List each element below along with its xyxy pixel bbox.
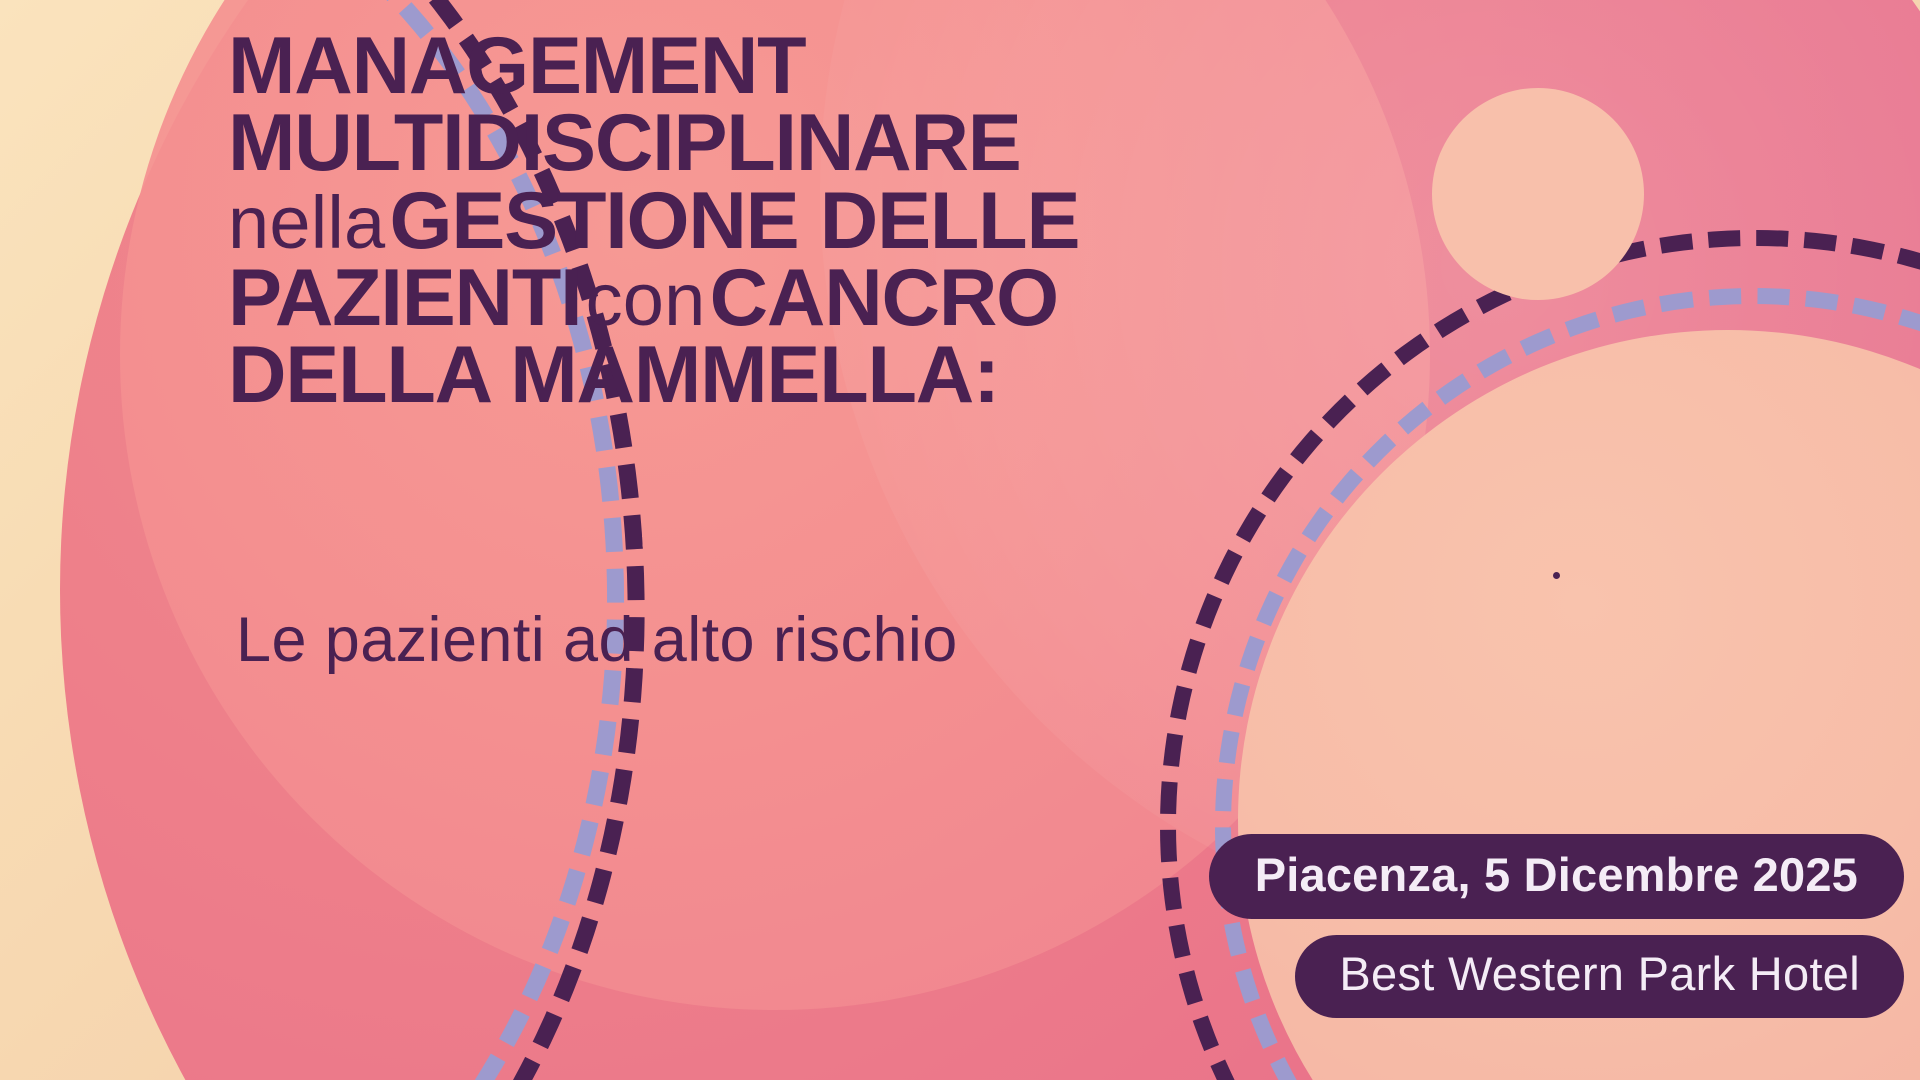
peach-circle-small	[1432, 88, 1644, 300]
headline-line-2: MULTIDISCIPLINARE	[228, 105, 1348, 182]
headline-word-con: con	[586, 258, 706, 341]
small-dot-icon	[1553, 572, 1560, 579]
headline-word-della-mammella: DELLA MAMMELLA:	[228, 330, 999, 420]
date-location-badge: Piacenza, 5 Dicembre 2025	[1209, 834, 1904, 919]
headline-line-3: nella GESTIONE DELLE	[228, 183, 1348, 260]
headline-line-4: PAZIENTI con CANCRO	[228, 260, 1348, 337]
headline-word-nella: nella	[228, 181, 385, 264]
headline-line-5: DELLA MAMMELLA:	[228, 337, 1348, 414]
poster-subtitle: Le pazienti ad alto rischio	[236, 604, 958, 676]
headline-line-1: MANAGEMENT	[228, 28, 1348, 105]
badge-group: Piacenza, 5 Dicembre 2025 Best Western P…	[1209, 834, 1904, 1018]
venue-badge: Best Western Park Hotel	[1295, 935, 1904, 1018]
page-title: MANAGEMENT MULTIDISCIPLINARE nella GESTI…	[228, 28, 1348, 415]
event-poster: MANAGEMENT MULTIDISCIPLINARE nella GESTI…	[0, 0, 1920, 1080]
